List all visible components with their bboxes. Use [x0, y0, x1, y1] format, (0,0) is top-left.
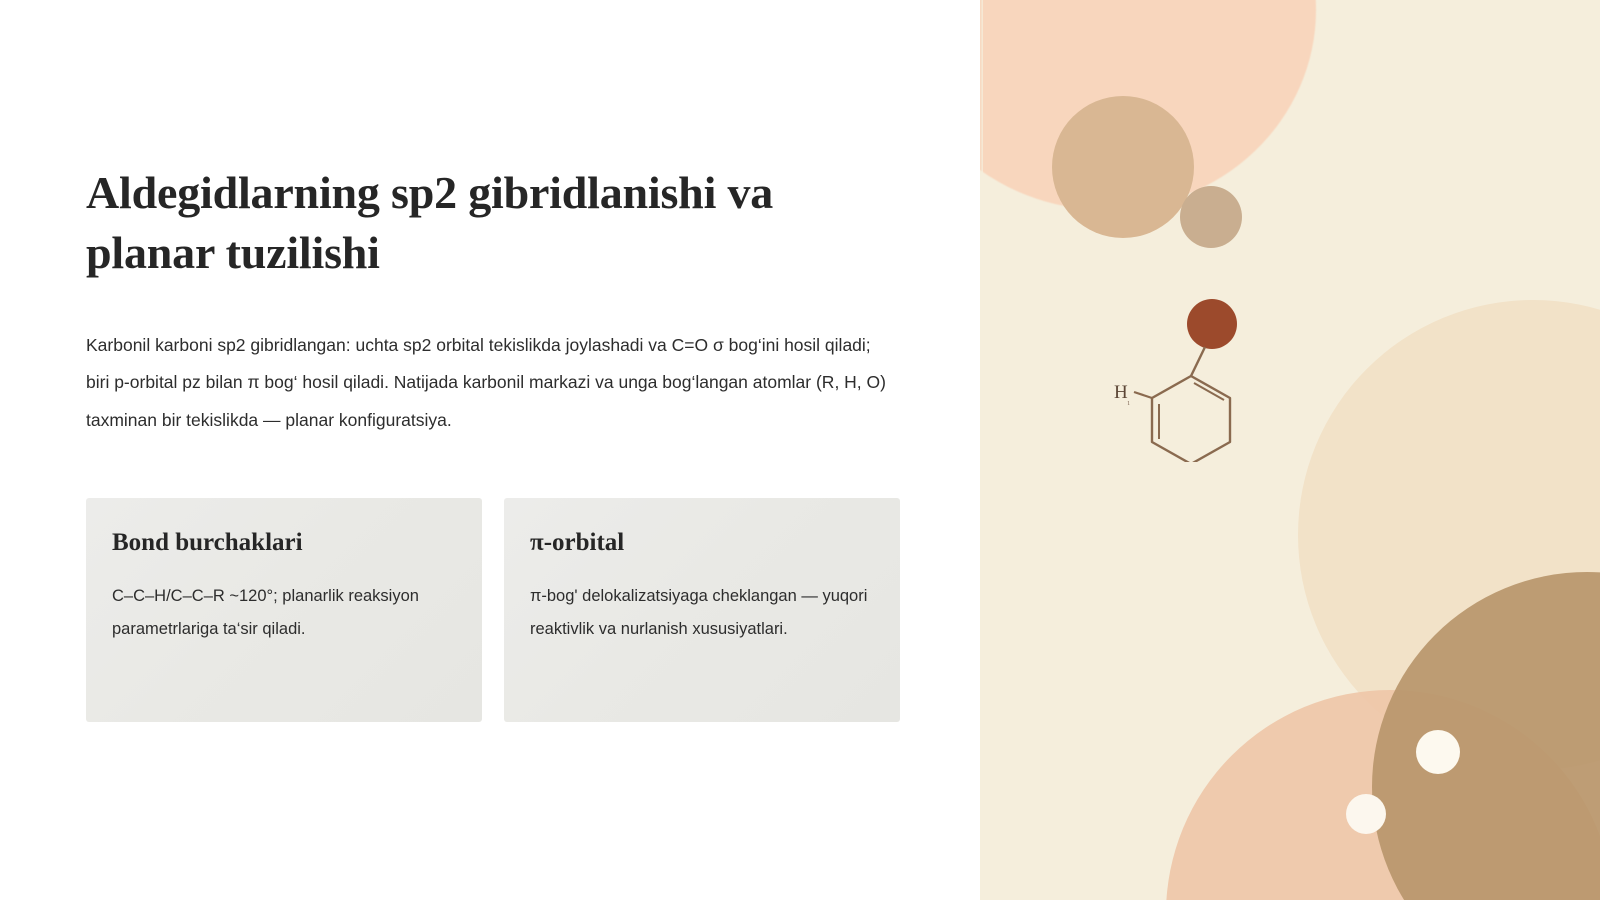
- white-dot-decoration: [1346, 794, 1386, 834]
- tan-circle-large-decoration: [1052, 96, 1194, 238]
- card-body-text: C–C–H/C–C–R ~120°; planarlik reaksiyon p…: [112, 580, 456, 646]
- info-card-pi-orbital: π-orbital π-bog' delokalizatsiyaga chekl…: [504, 498, 900, 722]
- info-card-row: Bond burchaklari C–C–H/C–C–R ~120°; plan…: [86, 498, 900, 722]
- card-title: π-orbital: [530, 528, 874, 558]
- benzene-ring-molecule-icon: H ₁: [1108, 282, 1268, 462]
- white-dot-decoration: [1416, 730, 1460, 774]
- molecule-h-label: H: [1114, 382, 1128, 403]
- slide-root: Aldegidlarning sp2 gibridlanishi va plan…: [0, 0, 1600, 900]
- page-title: Aldegidlarning sp2 gibridlanishi va plan…: [86, 163, 896, 283]
- text-block: Aldegidlarning sp2 gibridlanishi va plan…: [86, 163, 906, 440]
- card-body-text: π-bog' delokalizatsiyaga cheklangan — yu…: [530, 580, 874, 646]
- molecule-h-sublabel: ₁: [1127, 395, 1131, 406]
- info-card-bond-angles: Bond burchaklari C–C–H/C–C–R ~120°; plan…: [86, 498, 482, 722]
- tan-circle-small-decoration: [1180, 186, 1242, 248]
- panel-divider: [980, 0, 983, 900]
- card-title: Bond burchaklari: [112, 528, 456, 558]
- content-panel: Aldegidlarning sp2 gibridlanishi va plan…: [0, 0, 980, 900]
- body-paragraph: Karbonil karboni sp2 gibridlangan: uchta…: [86, 327, 898, 440]
- decorative-panel: H ₁: [980, 0, 1600, 900]
